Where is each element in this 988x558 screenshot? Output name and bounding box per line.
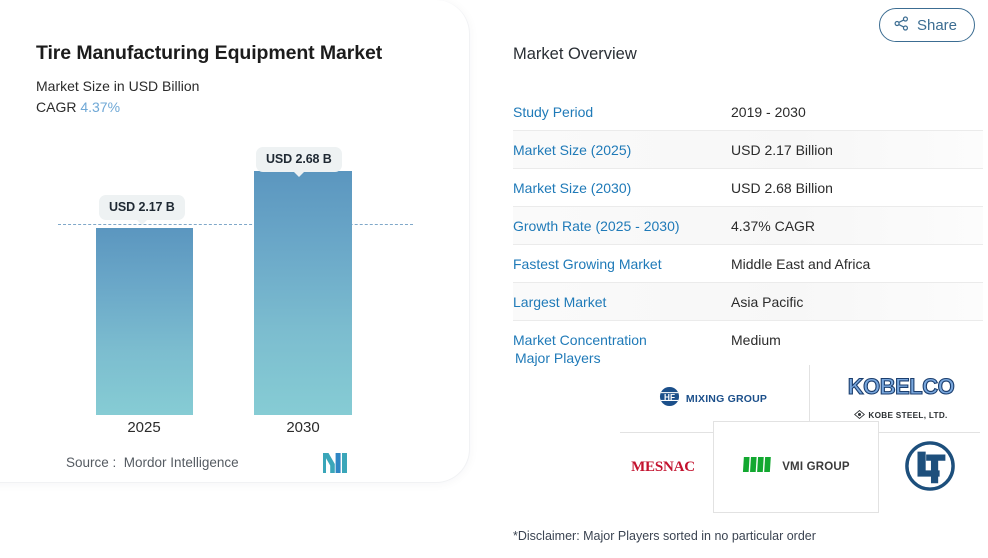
overview-title: Market Overview (513, 45, 637, 64)
table-row: Market Size (2025) USD 2.17 Billion (513, 131, 983, 169)
row-key: Study Period (513, 93, 731, 131)
table-row: Study Period 2019 - 2030 (513, 93, 983, 131)
vmi-mark-icon (742, 456, 776, 478)
row-key: Largest Market (513, 283, 731, 321)
row-value: Middle East and Africa (731, 245, 983, 283)
row-value: USD 2.68 Billion (731, 169, 983, 207)
table-row: Market Size (2030) USD 2.68 Billion (513, 169, 983, 207)
hf-badge-icon: HF (659, 386, 680, 412)
hf-logo-text: MIXING GROUP (686, 393, 767, 405)
table-row: Largest Market Asia Pacific (513, 283, 983, 321)
market-overview-table: Study Period 2019 - 2030 Market Size (20… (513, 93, 983, 358)
row-key: Market Size (2025) (513, 131, 731, 169)
row-value: Medium (731, 321, 983, 359)
lt-monogram-icon (905, 441, 955, 496)
row-value: USD 2.17 Billion (731, 131, 983, 169)
player-logo-kobelco: KOBELCO KOBE STEEL, LTD. (822, 373, 980, 425)
vmi-logo-text: VMI GROUP (782, 461, 850, 473)
row-value: 2019 - 2030 (731, 93, 983, 131)
table-row: Growth Rate (2025 - 2030) 4.37% CAGR (513, 207, 983, 245)
kobe-steel-diamond-icon (854, 406, 865, 424)
x-tick-2030: 2030 (253, 419, 353, 436)
chart-card: Tire Manufacturing Equipment Market Mark… (0, 0, 470, 483)
player-logo-vmi-group: VMI GROUP (716, 447, 876, 487)
row-key: Fastest Growing Market (513, 245, 731, 283)
player-logo-hf-mixing-group: HF MIXING GROUP (628, 379, 798, 419)
bar-chart-plot: USD 2.17 B USD 2.68 B 2025 2030 (0, 0, 470, 483)
row-key: Growth Rate (2025 - 2030) (513, 207, 731, 245)
row-key: Market Size (2030) (513, 169, 731, 207)
svg-text:KOBELCO: KOBELCO (848, 374, 955, 399)
share-nodes-icon (894, 16, 909, 35)
share-button-label: Share (917, 17, 957, 34)
data-label-2030: USD 2.68 B (256, 147, 342, 172)
kobe-steel-text: KOBE STEEL, LTD. (868, 411, 947, 420)
major-players-label: Major Players (515, 350, 601, 366)
kobelco-wordmark-icon: KOBELCO (846, 374, 956, 405)
source-label: Source : (66, 455, 116, 470)
mordor-intelligence-logo (322, 452, 348, 479)
player-logo-mesnac: MESNAC (618, 447, 708, 487)
disclaimer-text: *Disclaimer: Major Players sorted in no … (513, 529, 816, 543)
player-logo-lt (890, 437, 970, 499)
svg-text:HF: HF (664, 393, 675, 402)
bar-2030[interactable] (254, 171, 352, 415)
table-row: Fastest Growing Market Middle East and A… (513, 245, 983, 283)
bar-2025[interactable] (96, 228, 193, 415)
data-label-2025: USD 2.17 B (99, 195, 185, 220)
mesnac-wordmark: MESNAC (631, 459, 695, 476)
row-value: Asia Pacific (731, 283, 983, 321)
chart-card-inner: Tire Manufacturing Equipment Market Mark… (0, 0, 470, 483)
market-overview-panel: Share Market Overview Study Period 2019 … (500, 0, 988, 558)
row-value: 4.37% CAGR (731, 207, 983, 245)
x-tick-2025: 2025 (94, 419, 194, 436)
market-summary-page: Tire Manufacturing Equipment Market Mark… (0, 0, 988, 558)
major-players-logo-grid: HF MIXING GROUP KOBELCO (610, 365, 988, 513)
chart-source: Source : Mordor Intelligence (66, 455, 239, 470)
reference-dashed-line (58, 224, 413, 225)
share-button[interactable]: Share (879, 8, 975, 42)
source-name: Mordor Intelligence (124, 455, 239, 470)
